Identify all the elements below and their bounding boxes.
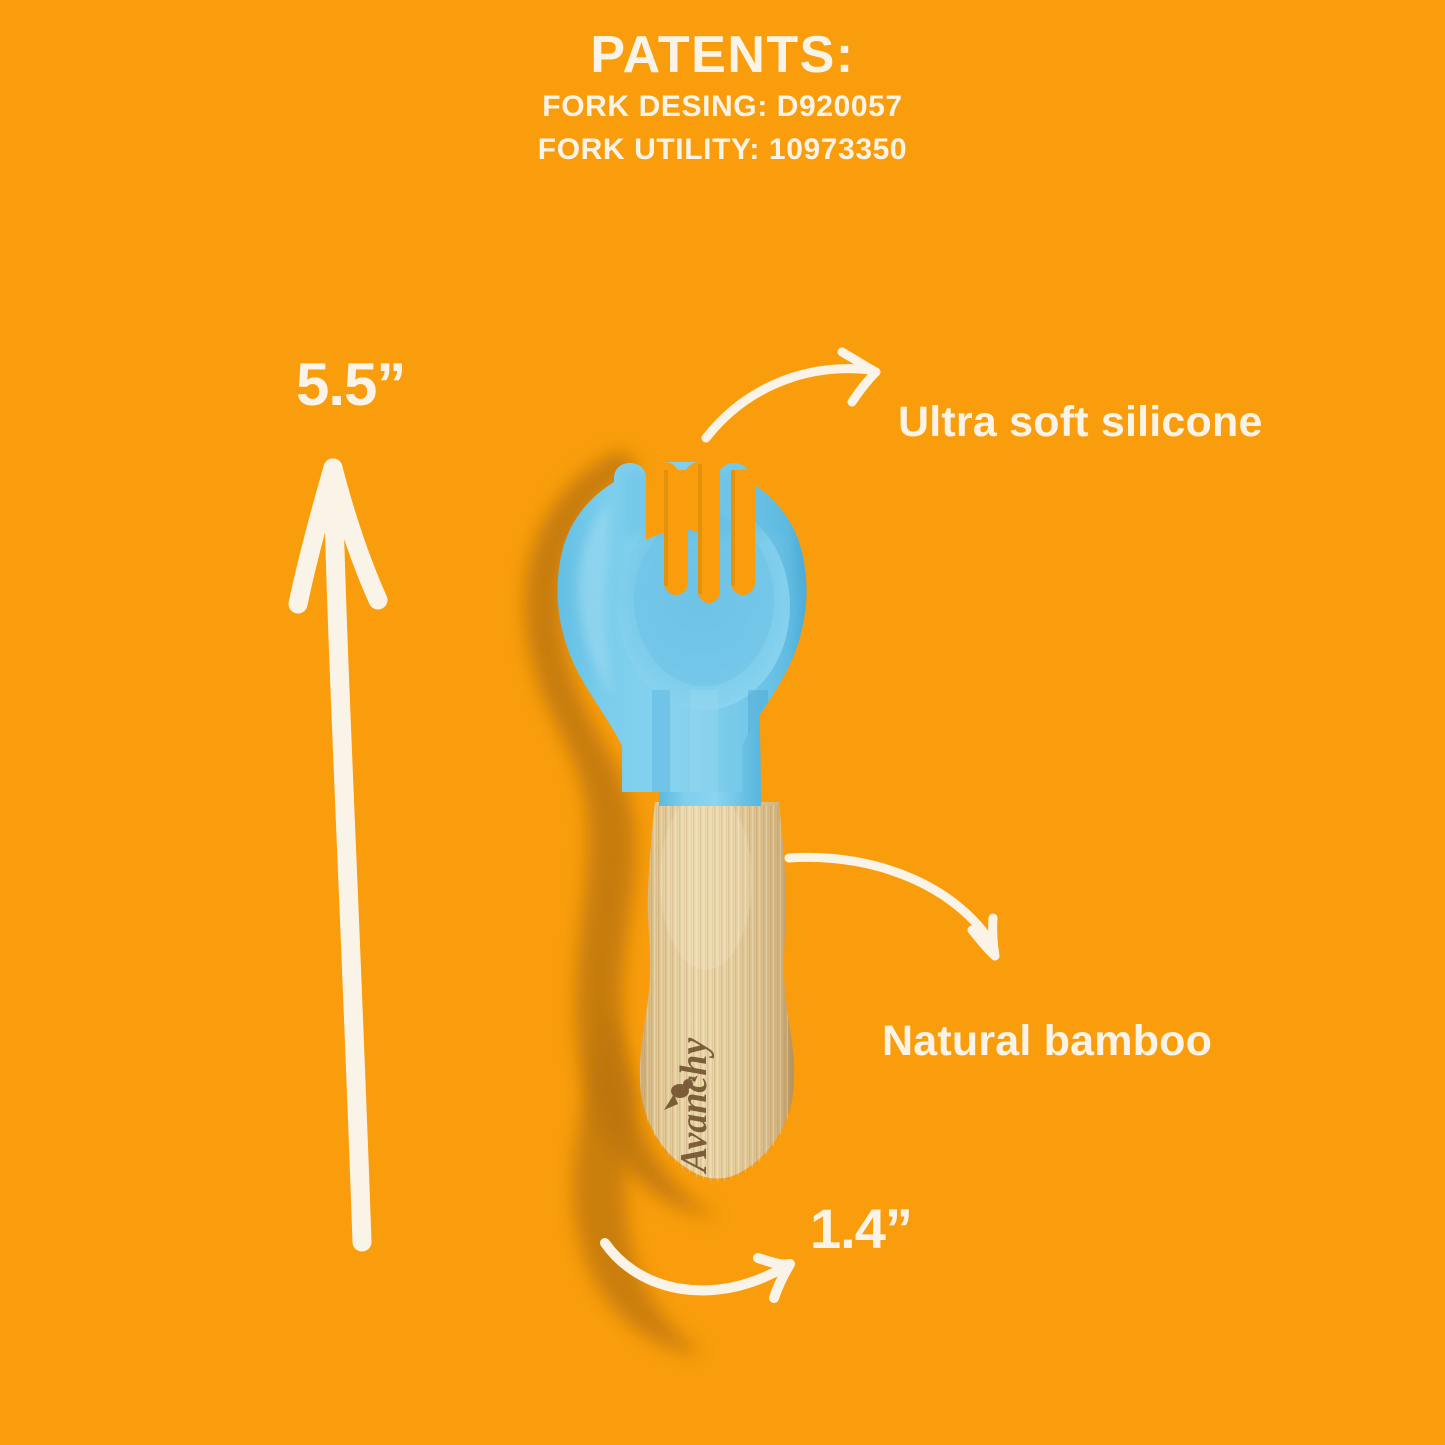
product-infographic: PATENTS: FORK DESING: D920057 FORK UTILI…: [0, 0, 1445, 1445]
callout-label-bamboo: Natural bamboo: [882, 1017, 1212, 1066]
dimension-label-length: 5.5”: [296, 350, 405, 419]
brand-name-text: Avanchy: [673, 1038, 715, 1175]
fork-tine-slots: [664, 462, 755, 603]
dimension-label-width: 1.4”: [810, 1196, 912, 1261]
product-image: Avanchy: [0, 0, 1445, 1445]
callout-label-silicone: Ultra soft silicone: [898, 398, 1263, 447]
